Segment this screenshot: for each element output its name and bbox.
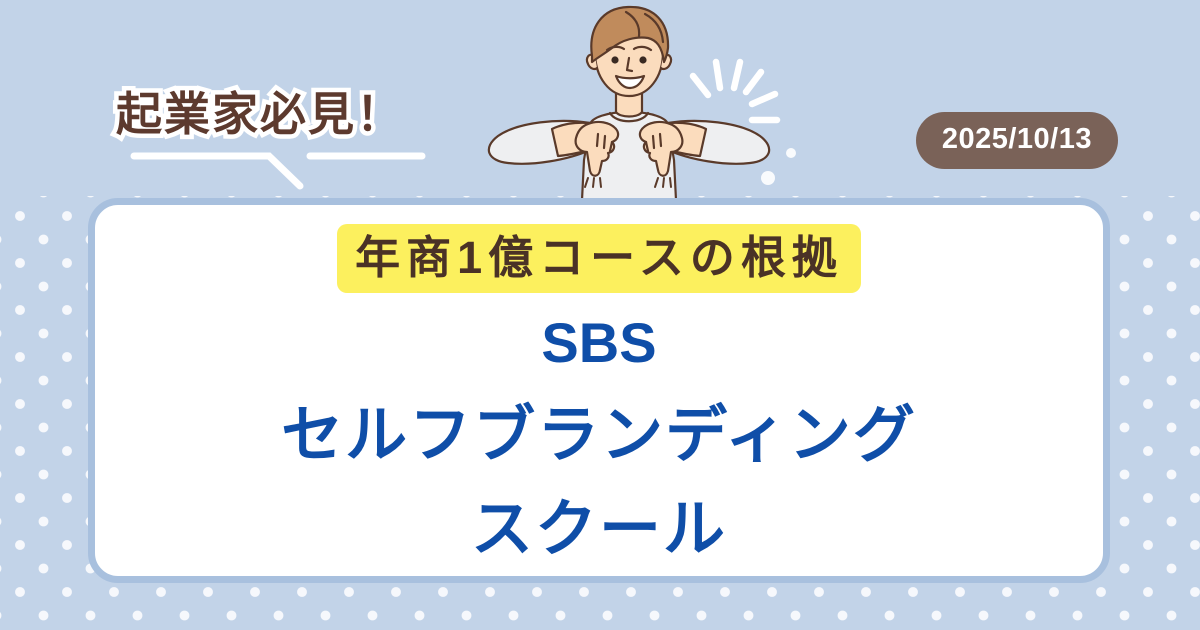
poster-canvas: 起業家必見！ 2025/10/13 年商1億コースの根拠 SBS セルフブランデ… [0, 0, 1200, 630]
smiling-man-pointing-down-icon [440, 0, 820, 200]
speech-bubble-tail-icon [112, 146, 442, 190]
main-title-card: 年商1億コースの根拠 SBS セルフブランディング スクール [88, 198, 1110, 583]
title-line-2: セルフブランディング [281, 405, 917, 467]
highlight-row: 年商1億コースの根拠 [337, 224, 861, 293]
date-badge: 2025/10/13 [916, 112, 1118, 169]
title-line-1: SBS [541, 315, 656, 371]
highlight-text: 年商1億コースの根拠 [337, 224, 861, 293]
eyebrow-text: 起業家必見！ [116, 78, 404, 144]
sparkle-icon [693, 62, 777, 120]
character-illustration [440, 0, 820, 200]
title-line-3: スクール [471, 499, 727, 561]
eyebrow-label: 起業家必見！ [112, 78, 442, 194]
